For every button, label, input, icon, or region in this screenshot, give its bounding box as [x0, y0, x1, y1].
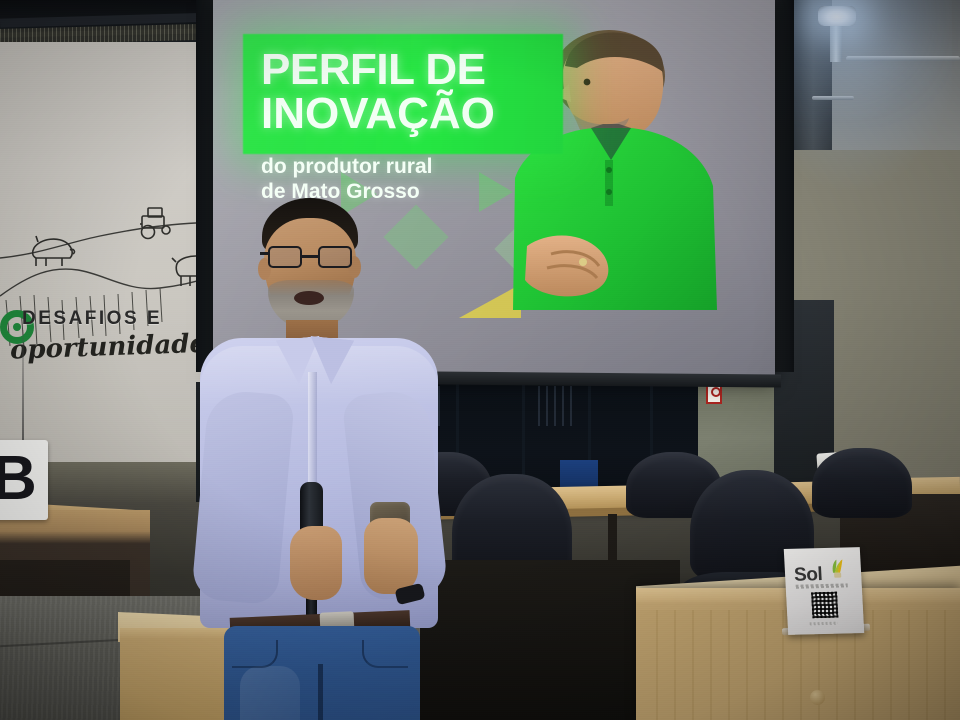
slide-title: PERFIL DE INOVAÇÃO: [261, 48, 591, 136]
wall-column: [790, 0, 832, 175]
table-card: Sol: [784, 547, 865, 635]
slide-subtitle-line1: do produtor rural: [261, 155, 433, 178]
eyeglasses-icon: [266, 246, 356, 268]
letter-sign-text: B: [0, 446, 37, 512]
ceiling-rail: [846, 56, 960, 61]
mouth: [294, 291, 324, 305]
card-tagline: [796, 583, 848, 588]
qr-code-icon: [811, 592, 838, 619]
slide-title-line1: PERFIL DE: [261, 45, 486, 94]
ceiling-rail: [812, 96, 854, 100]
hand-holding-microphone: [290, 526, 342, 600]
leaf-icon: [828, 558, 847, 578]
slide-title-line2: INOVAÇÃO: [261, 92, 591, 136]
speaker-person: [196, 196, 466, 720]
sign-wire: [22, 330, 24, 442]
jeans-pocket: [232, 640, 278, 668]
letter-sign: B: [0, 440, 48, 520]
spotlight-icon: [818, 6, 856, 26]
jeans-seam: [318, 664, 323, 720]
jeans-highlight: [240, 666, 300, 720]
drawer-knob: [810, 690, 825, 705]
spotlight-stem: [830, 22, 842, 62]
jeans-pocket: [362, 640, 408, 668]
photo-scene: DESAFIOS E oportunidades B: [0, 0, 960, 720]
left-arm: [191, 389, 295, 606]
card-footer-text: [810, 622, 838, 626]
wall-mural: [0, 196, 216, 396]
hand-holding-phone: [364, 518, 418, 594]
tractor-icon: [140, 208, 170, 239]
mural-title: DESAFIOS E: [22, 308, 162, 330]
